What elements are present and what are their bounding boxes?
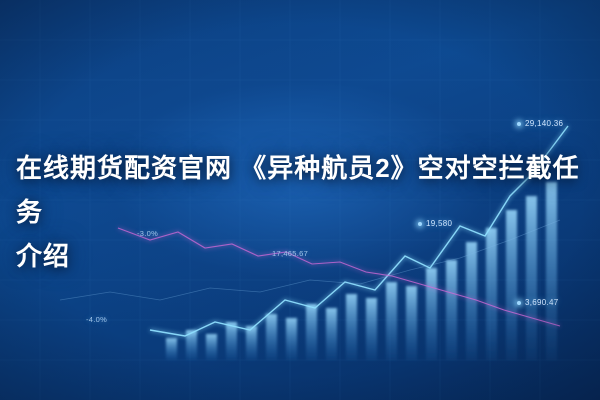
title-block: 在线期货配资官网 《异种航员2》空对空拦截任务 介绍: [0, 146, 600, 278]
page-title-line-2: 介绍: [16, 234, 584, 278]
value-label-top: 29,140.36: [517, 119, 563, 128]
image-canvas: 29,140.36 19,580 3,690.47 -3.0% -4.0% 17…: [0, 0, 600, 400]
point-marker-icon: [517, 301, 521, 305]
point-marker-icon: [517, 122, 521, 126]
axis-label-percent-2: -4.0%: [86, 315, 107, 324]
value-label-low: 3,690.47: [517, 298, 559, 307]
page-title-line-1: 在线期货配资官网 《异种航员2》空对空拦截任务: [16, 146, 584, 234]
